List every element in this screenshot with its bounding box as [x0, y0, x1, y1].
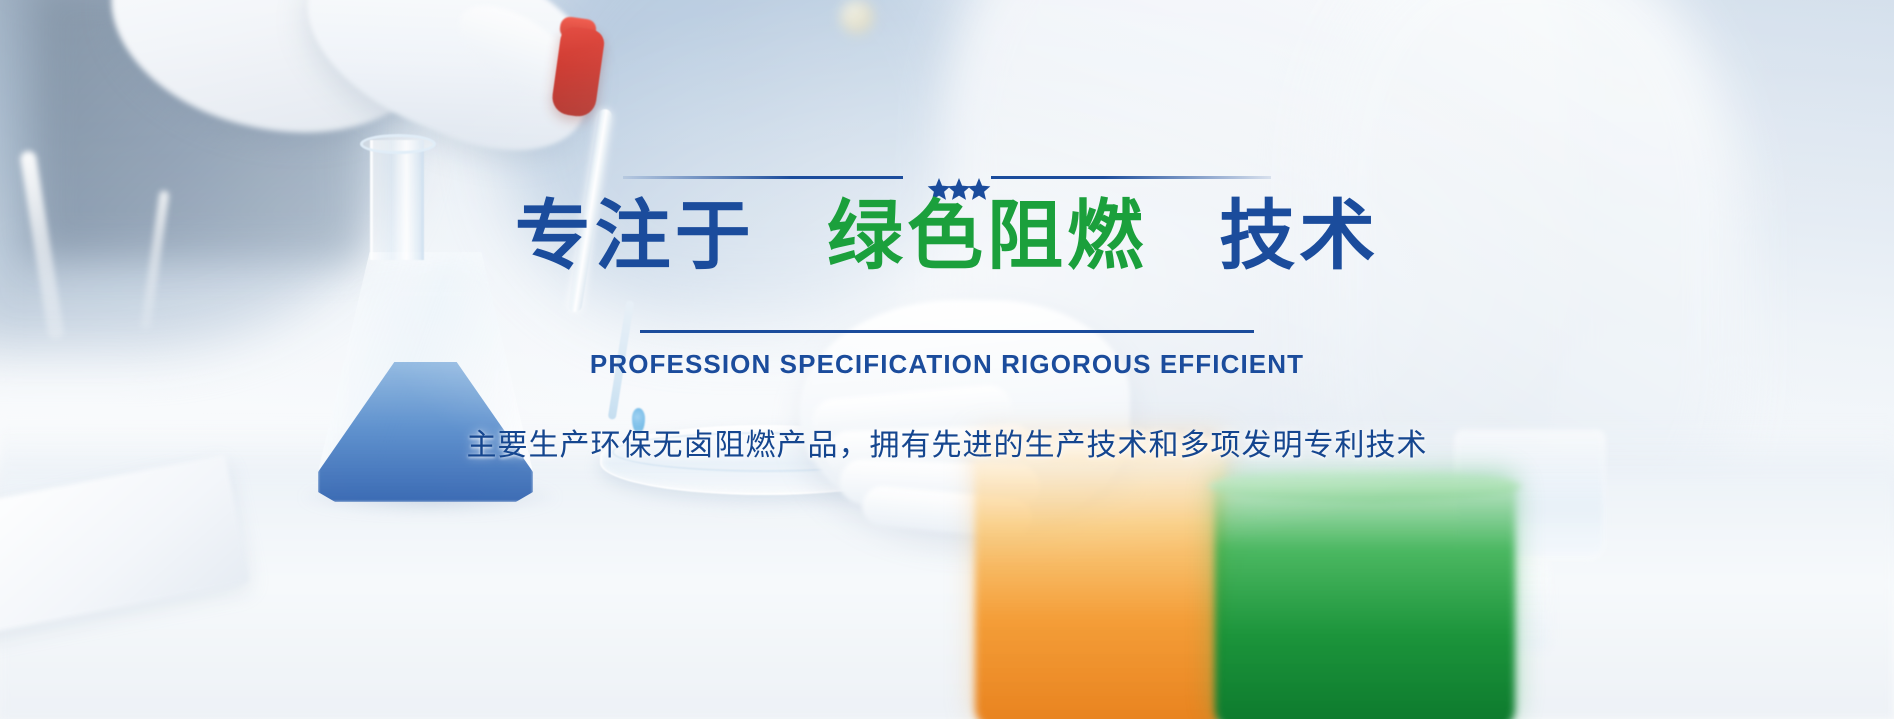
banner-headline: 专注于 绿色阻燃 技术	[0, 196, 1894, 278]
green-liquid-beaker	[1215, 480, 1515, 719]
orange-liquid-beaker	[975, 440, 1225, 719]
headline-part-focus: 专注于	[515, 194, 755, 279]
headline-part-green-flame-retardant: 绿色阻燃	[827, 194, 1147, 279]
flask-lip	[360, 134, 436, 154]
headline-part-technology: 技术	[1219, 194, 1379, 279]
banner-subtitle: PROFESSION SPECIFICATION RIGOROUS EFFICI…	[0, 349, 1894, 380]
banner-description: 主要生产环保无卤阻燃产品，拥有先进的生产技术和多项发明专利技术	[0, 420, 1894, 464]
background-coat-button	[840, 0, 874, 34]
decorative-rule-right	[991, 176, 1271, 179]
decorative-rule-left	[623, 176, 903, 179]
decorative-rule-row	[0, 176, 1894, 179]
hero-banner: 专注于 绿色阻燃 技术 PROFESSION SPECIFICATION RIG…	[0, 0, 1894, 719]
headline-underline	[640, 330, 1254, 333]
headline-underline-row	[0, 330, 1894, 333]
